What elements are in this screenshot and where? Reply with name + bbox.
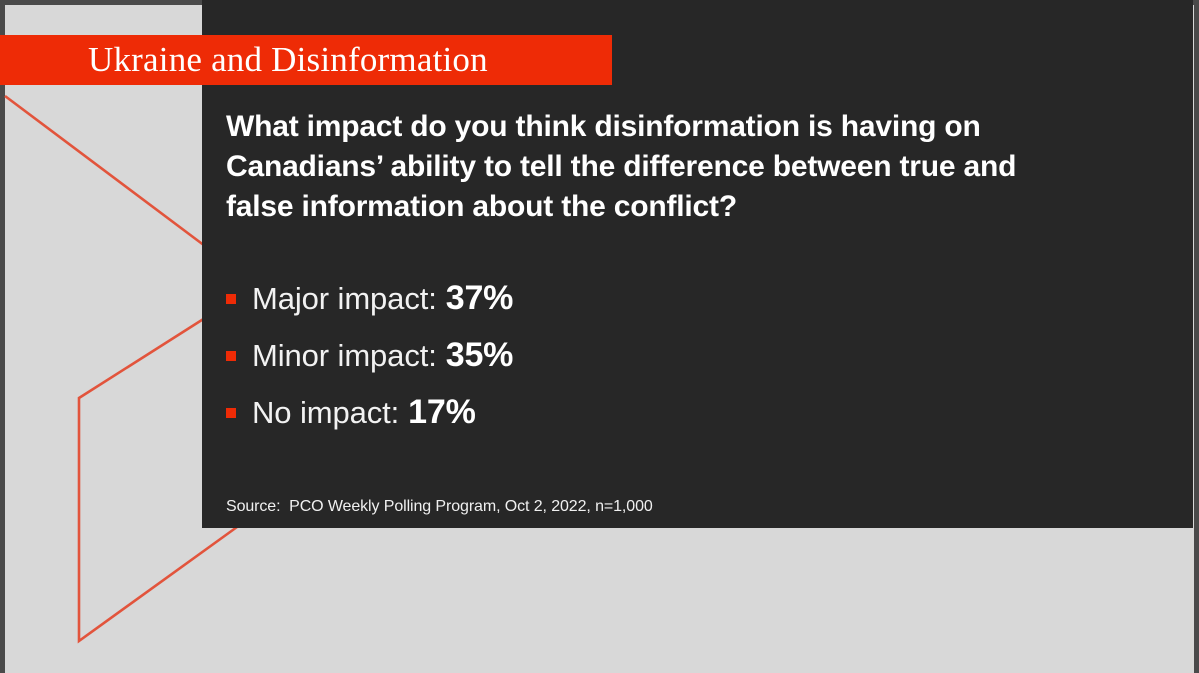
list-item: No impact: 17% [226,384,926,441]
slide-canvas: Ukraine and Disinformation What impact d… [0,0,1199,673]
list-item: Minor impact: 35% [226,327,926,384]
result-percentage: 37% [446,279,513,318]
list-item: Major impact: 37% [226,270,926,327]
result-label: Minor impact: [252,338,437,374]
poll-question-text: What impact do you think disinformation … [226,107,1086,227]
result-label: Major impact: [252,281,437,317]
bullet-square-icon [226,351,236,361]
source-footnote: Source: PCO Weekly Polling Program, Oct … [226,498,653,516]
result-percentage: 35% [446,336,513,375]
result-percentage: 17% [408,393,475,432]
bullet-square-icon [226,408,236,418]
poll-results-list: Major impact: 37% Minor impact: 35% No i… [226,270,926,441]
bullet-square-icon [226,294,236,304]
result-label: No impact: [252,395,399,431]
page-title: Ukraine and Disinformation [88,36,608,84]
